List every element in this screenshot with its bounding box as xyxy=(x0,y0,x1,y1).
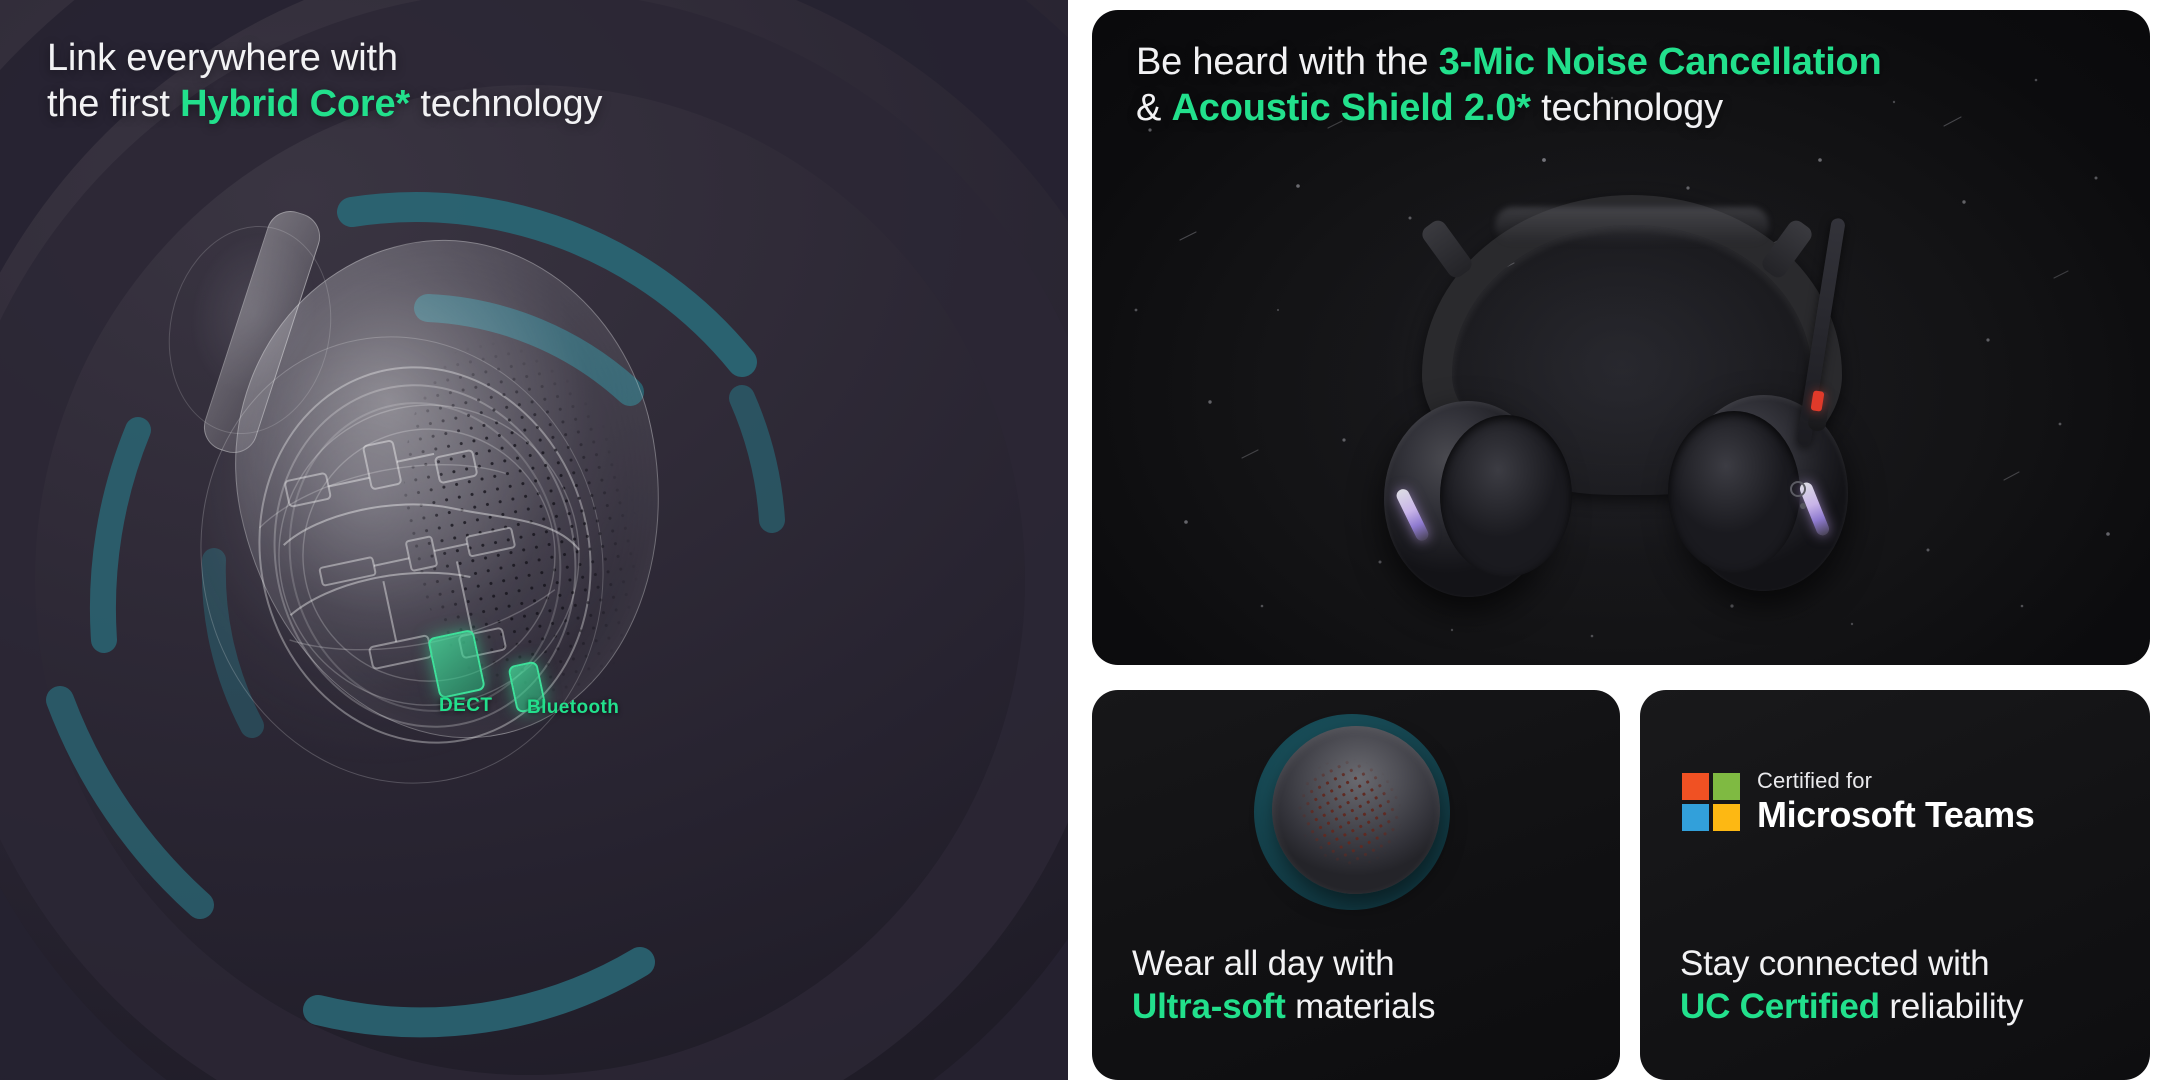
uc-line-2-post: reliability xyxy=(1880,987,2023,1026)
control-button-icon xyxy=(1790,481,1806,497)
cushion-mesh-texture xyxy=(1273,735,1426,891)
headband-slider-left xyxy=(1419,217,1475,281)
heading-line-2-post: technology xyxy=(410,83,602,125)
callout-label-dect: DECT xyxy=(439,695,492,717)
microsoft-tile-red xyxy=(1682,773,1709,800)
microsoft-tile-blue xyxy=(1682,804,1709,831)
heading-accent-hybrid-core: Hybrid Core* xyxy=(180,83,410,125)
uc-line-1: Stay connected with xyxy=(1680,944,1989,983)
ear-cushion-right xyxy=(1668,411,1800,573)
microsoft-tile-yellow xyxy=(1713,804,1740,831)
earcup-left xyxy=(1384,401,1552,597)
marketing-feature-board: DECT Bluetooth Link everywhere with the … xyxy=(0,0,2160,1080)
nc-line-1-pre: Be heard with the xyxy=(1136,41,1439,83)
nc-line-2-pre: & xyxy=(1136,87,1172,129)
headset-illustration xyxy=(1362,195,1922,595)
badge-product-name: Microsoft Teams xyxy=(1757,797,2034,833)
uc-accent: UC Certified xyxy=(1680,987,1880,1026)
badge-certified-for-label: Certified for xyxy=(1757,770,2034,792)
ultra-soft-accent: Ultra-soft xyxy=(1132,987,1286,1026)
ultra-soft-line-2-post: materials xyxy=(1286,987,1436,1026)
heading-hybrid-core: Link everywhere with the first Hybrid Co… xyxy=(47,36,602,128)
caption-ultra-soft: Wear all day with Ultra-soft materials xyxy=(1132,942,1435,1029)
heading-line-1: Link everywhere with xyxy=(47,37,398,79)
nc-accent-3-mic: 3-Mic Noise Cancellation xyxy=(1439,41,1882,83)
nc-line-2-post: technology xyxy=(1531,87,1723,129)
nc-accent-acoustic-shield: Acoustic Shield 2.0* xyxy=(1172,87,1531,129)
card-uc-certified: Certified for Microsoft Teams Stay conne… xyxy=(1640,690,2150,1080)
panel-noise-cancellation: Be heard with the 3-Mic Noise Cancellati… xyxy=(1092,10,2150,665)
heading-noise-cancellation: Be heard with the 3-Mic Noise Cancellati… xyxy=(1136,40,1882,132)
callout-label-bluetooth: Bluetooth xyxy=(527,697,619,719)
heading-line-2-pre: the first xyxy=(47,83,180,125)
panel-hybrid-core: DECT Bluetooth Link everywhere with the … xyxy=(0,0,1068,1080)
microsoft-teams-certified-badge: Certified for Microsoft Teams xyxy=(1682,770,2034,833)
microsoft-tile-green xyxy=(1713,773,1740,800)
caption-uc-certified: Stay connected with UC Certified reliabi… xyxy=(1680,942,2023,1029)
control-dot-icon xyxy=(1800,503,1806,509)
ear-cushion-left xyxy=(1440,415,1572,577)
hybrid-core-xray-render: DECT Bluetooth xyxy=(140,215,760,835)
ultra-soft-line-1: Wear all day with xyxy=(1132,944,1394,983)
microsoft-logo-icon xyxy=(1682,773,1740,831)
card-ultra-soft: Wear all day with Ultra-soft materials xyxy=(1092,690,1620,1080)
ear-cushion-illustration xyxy=(1246,706,1466,916)
led-indicator-left xyxy=(1394,487,1430,543)
